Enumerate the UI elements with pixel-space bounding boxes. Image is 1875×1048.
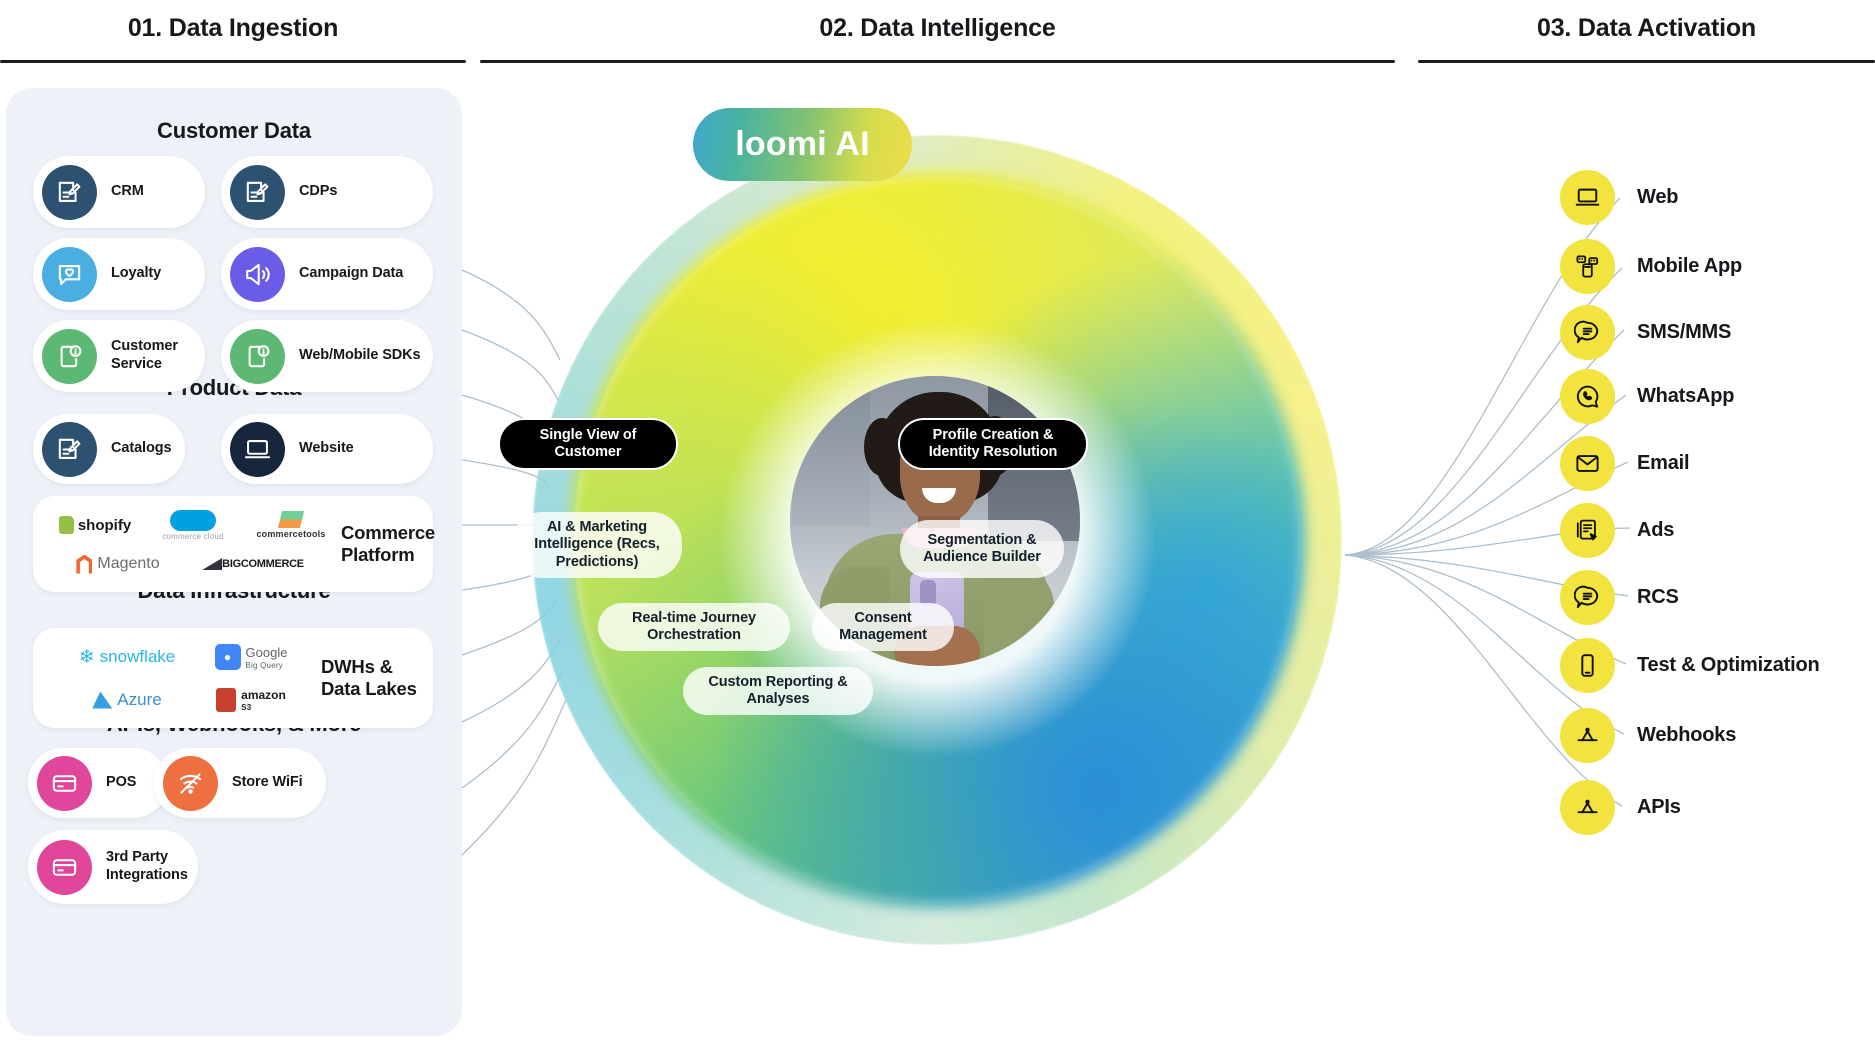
commerce-platform-card[interactable]: shopify commerce cloud commercetools <box>33 496 433 592</box>
ingestion-chip-catalogs[interactable]: Catalogs <box>33 414 185 484</box>
chat-lines-icon <box>1560 570 1615 625</box>
loomi-ai-badge[interactable]: loomi AI <box>693 108 912 181</box>
channel-label: Web <box>1637 186 1678 209</box>
channel-label: SMS/MMS <box>1637 321 1731 344</box>
capability-consent-management[interactable]: Consent Management <box>812 603 954 651</box>
wifi-off-icon <box>163 756 218 811</box>
ingestion-chip-3rd-party-integrations[interactable]: 3rd Party Integrations <box>28 830 198 904</box>
activation-channel-rcs[interactable]: RCS <box>1560 570 1679 625</box>
ingestion-chip-web-mobile-sdks[interactable]: Web/Mobile SDKs <box>221 320 433 392</box>
document-edit-icon <box>230 165 285 220</box>
chip-label: Store WiFi <box>232 774 303 792</box>
snowflake-logo: ❄ snowflake <box>59 647 195 667</box>
bigcommerce-logo: BIGCOMMERCE <box>183 558 323 570</box>
chip-label: 3rd Party Integrations <box>106 849 198 884</box>
column-title-ingestion: 01. Data Ingestion <box>0 14 466 43</box>
activation-channel-web[interactable]: Web <box>1560 170 1678 225</box>
phone-info-icon <box>42 329 97 384</box>
ads-click-icon <box>1560 503 1615 558</box>
card-icon <box>37 840 92 895</box>
ingestion-chip-crm[interactable]: CRM <box>33 156 205 228</box>
activation-channel-sms-mms[interactable]: SMS/MMS <box>1560 305 1731 360</box>
phone-outline-icon <box>1560 638 1615 693</box>
activation-channel-email[interactable]: Email <box>1560 436 1689 491</box>
chip-label: Catalogs <box>111 440 171 458</box>
shopify-logo: shopify <box>45 516 145 534</box>
ingestion-chip-store-wifi[interactable]: Store WiFi <box>154 748 326 818</box>
salesforce-commerce-cloud-logo: commerce cloud <box>145 510 241 541</box>
whatsapp-icon <box>1560 369 1615 424</box>
commerce-logo-grid: shopify commerce cloud commercetools <box>33 495 341 593</box>
card-label: Commerce Platform <box>341 522 449 566</box>
dwh-data-lakes-card[interactable]: ❄ snowflake ● Google Big Query <box>33 628 433 728</box>
chip-label: Customer Service <box>111 338 205 373</box>
capability-realtime-journey-orchestration[interactable]: Real-time Journey Orchestration <box>598 603 790 651</box>
envelope-icon <box>1560 436 1615 491</box>
activation-channel-webhooks[interactable]: Webhooks <box>1560 708 1736 763</box>
column-title-activation: 03. Data Activation <box>1418 14 1875 43</box>
chip-label: Campaign Data <box>299 265 403 283</box>
ingestion-chip-campaign-data[interactable]: Campaign Data <box>221 238 433 310</box>
channel-label: APIs <box>1637 796 1681 819</box>
laptop-icon <box>1560 170 1615 225</box>
header-rule <box>0 60 466 63</box>
activation-channel-mobile-app[interactable]: Mobile App <box>1560 239 1742 294</box>
ingestion-chip-cdps[interactable]: CDPs <box>221 156 433 228</box>
column-header-intelligence: 02. Data Intelligence <box>480 14 1395 63</box>
chip-label: CDPs <box>299 183 337 201</box>
channel-label: Ads <box>1637 519 1674 542</box>
channel-label: RCS <box>1637 586 1679 609</box>
activation-channel-whatsapp[interactable]: WhatsApp <box>1560 369 1734 424</box>
chip-label: POS <box>106 774 136 792</box>
capability-profile-creation-identity-resolution[interactable]: Profile Creation & Identity Resolution <box>898 418 1088 470</box>
chip-label: Loyalty <box>111 265 161 283</box>
document-edit-icon <box>42 422 97 477</box>
google-bigquery-logo: ● Google Big Query <box>195 644 307 670</box>
logo-sub: commerce cloud <box>162 532 224 541</box>
megaphone-icon <box>230 247 285 302</box>
capability-segmentation-audience-builder[interactable]: Segmentation & Audience Builder <box>900 520 1064 578</box>
capability-label: Real-time Journey Orchestration <box>612 610 776 645</box>
laptop-icon <box>230 422 285 477</box>
card-label: DWHs & Data Lakes <box>321 656 433 700</box>
chip-label: Website <box>299 440 354 458</box>
ingestion-chip-customer-service[interactable]: Customer Service <box>33 320 205 392</box>
amazon-s3-logo: amazon S3 <box>195 688 307 712</box>
capability-label: Profile Creation & Identity Resolution <box>914 427 1072 462</box>
logo-sub: S3 <box>241 703 251 712</box>
capability-label: Custom Reporting & Analyses <box>697 674 859 709</box>
commercetools-logo: commercetools <box>241 511 341 539</box>
webhook-icon <box>1560 708 1615 763</box>
loomi-ai-label: loomi AI <box>735 125 869 164</box>
capability-label: Single View of Customer <box>514 427 662 462</box>
capability-label: Consent Management <box>826 610 940 645</box>
data-ingestion-panel: Customer Data Product Data Data Infrastr… <box>6 88 462 1036</box>
data-intelligence-visual: loomi AI Single View of Customer Profile… <box>470 60 1405 1040</box>
column-header-ingestion: 01. Data Ingestion <box>0 14 466 63</box>
diagram-canvas: 01. Data Ingestion 02. Data Intelligence… <box>0 0 1875 1048</box>
group-title-customer-data: Customer Data <box>6 118 462 144</box>
mobile-chat-icon <box>1560 239 1615 294</box>
capability-label: AI & Marketing Intelligence (Recs, Predi… <box>526 519 668 571</box>
webhook-icon <box>1560 780 1615 835</box>
azure-logo: Azure <box>59 690 195 710</box>
phone-info-icon <box>230 329 285 384</box>
logo-sub: Big Query <box>246 661 283 670</box>
channel-label: Test & Optimization <box>1637 654 1820 677</box>
channel-label: Email <box>1637 452 1689 475</box>
chip-label: CRM <box>111 183 144 201</box>
capability-label: Segmentation & Audience Builder <box>914 532 1050 567</box>
channel-label: WhatsApp <box>1637 385 1734 408</box>
column-title-intelligence: 02. Data Intelligence <box>480 14 1395 43</box>
column-header-activation: 03. Data Activation <box>1418 14 1875 63</box>
ingestion-chip-pos[interactable]: POS <box>28 748 168 818</box>
logo-wordmark: commercetools <box>256 529 325 539</box>
capability-custom-reporting-analyses[interactable]: Custom Reporting & Analyses <box>683 667 873 715</box>
document-edit-icon <box>42 165 97 220</box>
capability-single-view-of-customer[interactable]: Single View of Customer <box>498 418 678 470</box>
channel-label: Webhooks <box>1637 724 1736 747</box>
dwh-logo-grid: ❄ snowflake ● Google Big Query <box>33 625 321 731</box>
header-rule <box>1418 60 1875 63</box>
ingestion-chip-website[interactable]: Website <box>221 414 433 484</box>
chip-label: Web/Mobile SDKs <box>299 347 421 365</box>
magento-logo: Magento <box>53 555 183 574</box>
activation-channel-test-optimization[interactable]: Test & Optimization <box>1560 638 1820 693</box>
chat-lines-icon <box>1560 305 1615 360</box>
capability-ai-marketing-intelligence[interactable]: AI & Marketing Intelligence (Recs, Predi… <box>512 512 682 578</box>
card-icon <box>37 756 92 811</box>
chat-heart-icon <box>42 247 97 302</box>
activation-channel-apis[interactable]: APIs <box>1560 780 1681 835</box>
channel-label: Mobile App <box>1637 255 1742 278</box>
ingestion-chip-loyalty[interactable]: Loyalty <box>33 238 205 310</box>
activation-channel-ads[interactable]: Ads <box>1560 503 1674 558</box>
